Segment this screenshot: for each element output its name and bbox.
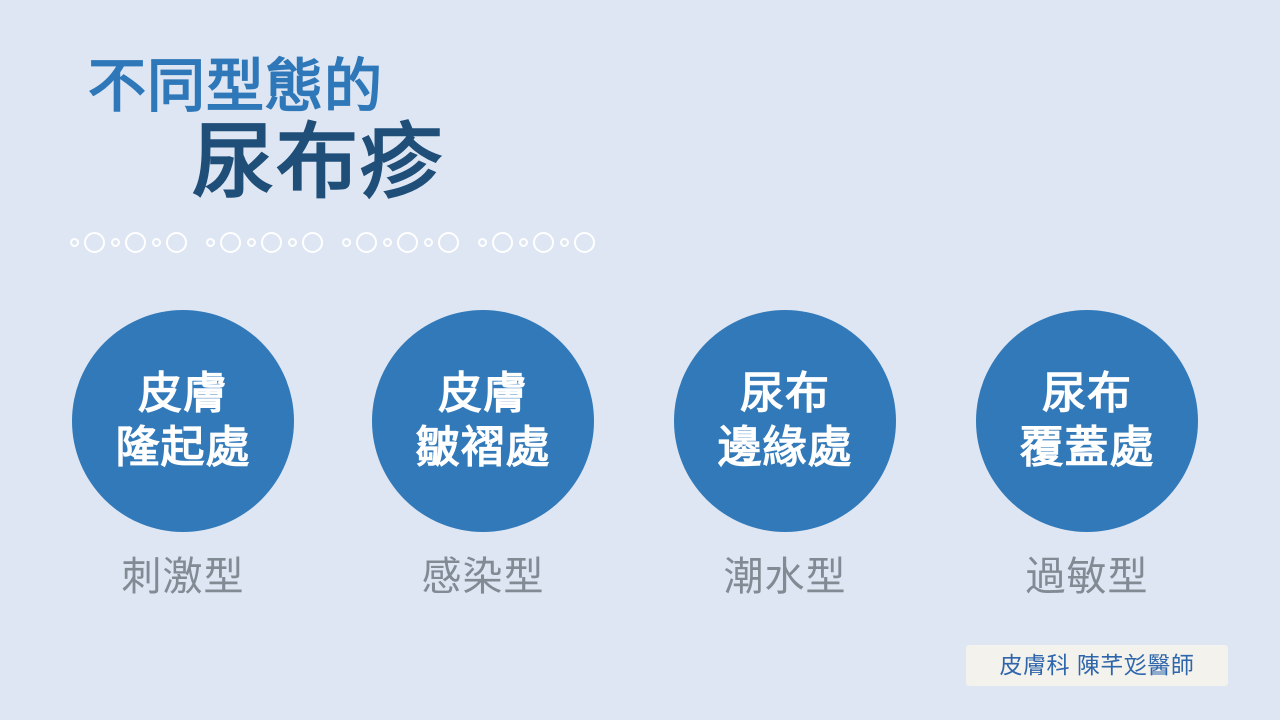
category-item-1[interactable]: 皮膚 隆起處 刺激型	[53, 310, 313, 600]
ring-pair	[288, 232, 329, 253]
ring-group	[70, 232, 193, 253]
large-ring-icon	[302, 232, 323, 253]
large-ring-icon	[166, 232, 187, 253]
small-ring-icon	[206, 238, 215, 247]
category-item-3[interactable]: 尿布 邊緣處 潮水型	[655, 310, 915, 600]
small-ring-icon	[519, 238, 528, 247]
category-item-2[interactable]: 皮膚 皺褶處 感染型	[353, 310, 613, 600]
title-line-primary: 不同型態的	[88, 56, 383, 118]
category-item-4[interactable]: 尿布 覆蓋處 過敏型	[957, 310, 1217, 600]
bubble-line-1: 皮膚	[438, 367, 528, 421]
ring-group	[342, 232, 465, 253]
category-bubble-3[interactable]: 尿布 邊緣處	[674, 310, 896, 532]
slide-canvas: 不同型態的 尿布疹	[0, 0, 1280, 720]
ring-pair	[424, 232, 465, 253]
small-ring-icon	[560, 238, 569, 247]
large-ring-icon	[125, 232, 146, 253]
small-ring-icon	[247, 238, 256, 247]
ring-pair	[247, 232, 288, 253]
bubble-line-1: 尿布	[740, 367, 830, 421]
ring-pair	[478, 232, 519, 253]
ring-pair	[70, 232, 111, 253]
ring-pair	[206, 232, 247, 253]
small-ring-icon	[288, 238, 297, 247]
large-ring-icon	[356, 232, 377, 253]
title-line-secondary: 尿布疹	[192, 118, 444, 208]
ring-pair	[111, 232, 152, 253]
large-ring-icon	[261, 232, 282, 253]
ring-group	[478, 232, 601, 253]
ring-pair	[152, 232, 193, 253]
category-bubble-4[interactable]: 尿布 覆蓋處	[976, 310, 1198, 532]
ring-pair	[383, 232, 424, 253]
footer-credit-badge: 皮膚科 陳芊彣醫師	[966, 645, 1228, 686]
category-bubble-2[interactable]: 皮膚 皺褶處	[372, 310, 594, 532]
category-caption-2: 感染型	[353, 554, 613, 600]
bubble-line-2: 隆起處	[116, 421, 251, 475]
large-ring-icon	[492, 232, 513, 253]
footer-credit-text: 皮膚科 陳芊彣醫師	[1000, 652, 1195, 679]
small-ring-icon	[152, 238, 161, 247]
bubble-line-1: 尿布	[1042, 367, 1132, 421]
ring-divider	[70, 230, 601, 254]
ring-pair	[560, 232, 601, 253]
large-ring-icon	[533, 232, 554, 253]
large-ring-icon	[84, 232, 105, 253]
ring-pair	[342, 232, 383, 253]
category-bubble-1[interactable]: 皮膚 隆起處	[72, 310, 294, 532]
category-caption-1: 刺激型	[53, 554, 313, 600]
bubble-line-2: 邊緣處	[718, 421, 853, 475]
category-caption-4: 過敏型	[957, 554, 1217, 600]
bubble-line-2: 皺褶處	[416, 421, 551, 475]
large-ring-icon	[220, 232, 241, 253]
bubble-line-1: 皮膚	[138, 367, 228, 421]
small-ring-icon	[70, 238, 79, 247]
small-ring-icon	[111, 238, 120, 247]
small-ring-icon	[424, 238, 433, 247]
large-ring-icon	[574, 232, 595, 253]
title-block: 不同型態的 尿布疹	[0, 56, 620, 226]
small-ring-icon	[383, 238, 392, 247]
category-circles-row: 皮膚 隆起處 刺激型 皮膚 皺褶處 感染型 尿布 邊緣處 潮水型 尿布 覆蓋處	[0, 310, 1280, 610]
large-ring-icon	[397, 232, 418, 253]
bubble-line-2: 覆蓋處	[1020, 421, 1155, 475]
ring-group	[206, 232, 329, 253]
small-ring-icon	[478, 238, 487, 247]
category-caption-3: 潮水型	[655, 554, 915, 600]
large-ring-icon	[438, 232, 459, 253]
ring-pair	[519, 232, 560, 253]
small-ring-icon	[342, 238, 351, 247]
